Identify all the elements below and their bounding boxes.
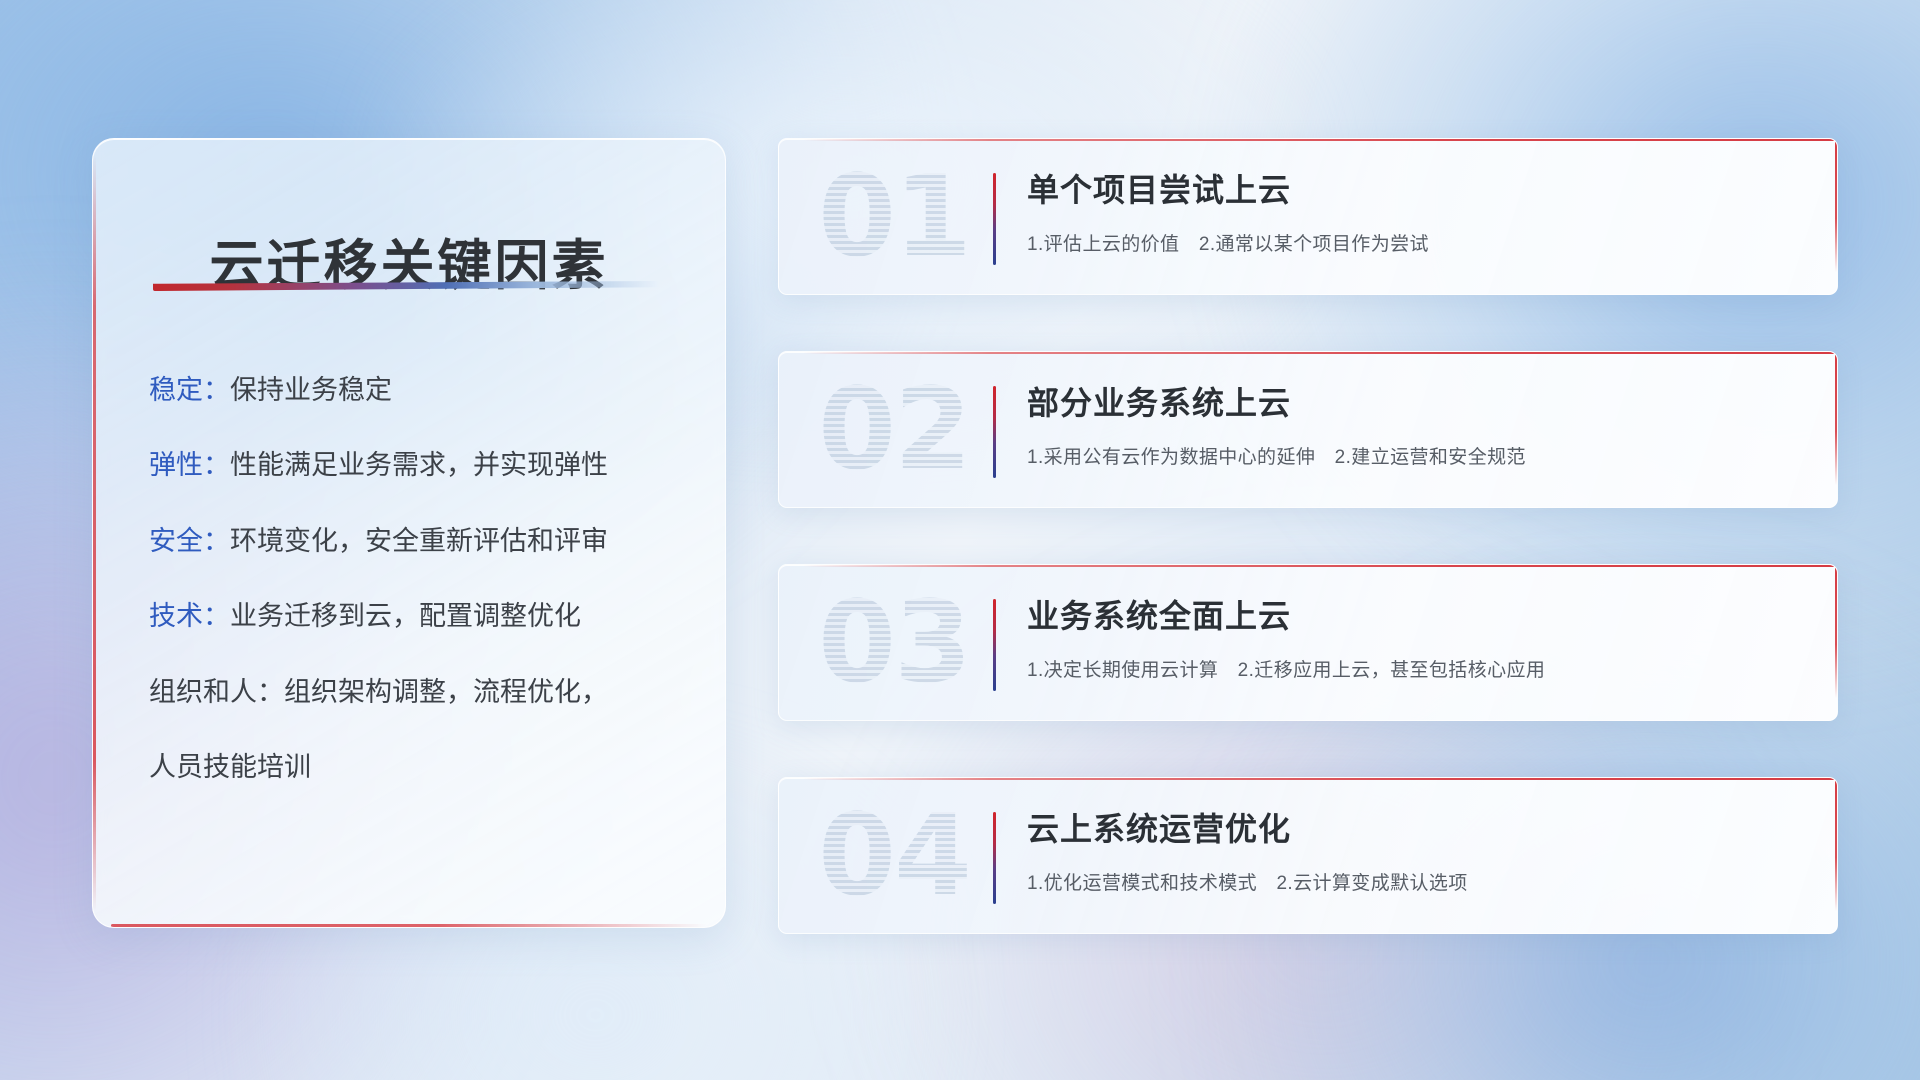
stage-subtitle: 1.采用公有云作为数据中心的延伸 2.建立运营和安全规范 (1027, 442, 1803, 469)
stage-divider-bar (993, 173, 996, 265)
factor-label: 组织和人： (149, 677, 284, 707)
stage-body: 云上系统运营优化 1.优化运营模式和技术模式 2.云计算变成默认选项 (1027, 804, 1803, 895)
stage-divider-bar (993, 386, 996, 478)
card-right-accent (1835, 565, 1837, 698)
migration-stages-list: 01 单个项目尝试上云 1.评估上云的价值 2.通常以某个项目作为尝试 02 部… (778, 138, 1838, 934)
factor-text-continued: 人员技能培训 (149, 752, 311, 782)
stage-card-01[interactable]: 01 单个项目尝试上云 1.评估上云的价值 2.通常以某个项目作为尝试 (778, 138, 1838, 295)
factor-label: 技术： (149, 601, 230, 631)
stage-card-04[interactable]: 04 云上系统运营优化 1.优化运营模式和技术模式 2.云计算变成默认选项 (778, 777, 1838, 934)
stage-title: 部分业务系统上云 (1027, 378, 1803, 424)
stage-subtitle: 1.评估上云的价值 2.通常以某个项目作为尝试 (1027, 229, 1803, 256)
card-top-accent (803, 565, 1837, 567)
stage-divider-bar (993, 812, 996, 904)
factor-text: 保持业务稳定 (230, 375, 392, 405)
factor-label: 安全： (149, 526, 230, 556)
stage-title: 单个项目尝试上云 (1027, 165, 1803, 211)
card-right-accent (1835, 139, 1837, 272)
list-item-continuation: 人员技能培训 (149, 748, 691, 787)
stage-body: 部分业务系统上云 1.采用公有云作为数据中心的延伸 2.建立运营和安全规范 (1027, 378, 1803, 469)
stage-number: 04 (809, 784, 979, 928)
stage-number: 01 (809, 145, 979, 289)
key-factors-list: 稳定：保持业务稳定 弹性：性能满足业务需求，并实现弹性 安全：环境变化，安全重新… (149, 371, 691, 787)
factor-text: 组织架构调整，流程优化， (284, 677, 608, 707)
card-top-accent (803, 352, 1837, 354)
card-top-accent (803, 778, 1837, 780)
list-item: 稳定：保持业务稳定 (149, 371, 691, 410)
stage-card-03[interactable]: 03 业务系统全面上云 1.决定长期使用云计算 2.迁移应用上云，甚至包括核心应… (778, 564, 1838, 721)
card-top-accent (803, 139, 1837, 141)
factor-text: 环境变化，安全重新评估和评审 (230, 526, 608, 556)
factor-label: 稳定： (149, 375, 230, 405)
card-right-accent (1835, 778, 1837, 911)
stage-body: 单个项目尝试上云 1.评估上云的价值 2.通常以某个项目作为尝试 (1027, 165, 1803, 256)
stage-number: 03 (809, 571, 979, 715)
stage-body: 业务系统全面上云 1.决定长期使用云计算 2.迁移应用上云，甚至包括核心应用 (1027, 591, 1803, 682)
stage-number: 02 (809, 358, 979, 502)
stage-subtitle: 1.优化运营模式和技术模式 2.云计算变成默认选项 (1027, 868, 1803, 895)
list-item: 组织和人：组织架构调整，流程优化， (149, 673, 691, 712)
factor-text: 业务迁移到云，配置调整优化 (230, 601, 581, 631)
list-item: 技术：业务迁移到云，配置调整优化 (149, 597, 691, 636)
stage-title: 业务系统全面上云 (1027, 591, 1803, 637)
card-right-accent (1835, 352, 1837, 485)
panel-bottom-accent-bar (111, 924, 707, 927)
list-item: 安全：环境变化，安全重新评估和评审 (149, 522, 691, 561)
factor-text: 性能满足业务需求，并实现弹性 (230, 450, 608, 480)
stage-title: 云上系统运营优化 (1027, 804, 1803, 850)
factor-label: 弹性： (149, 450, 230, 480)
list-item: 弹性：性能满足业务需求，并实现弹性 (149, 446, 691, 485)
stage-subtitle: 1.决定长期使用云计算 2.迁移应用上云，甚至包括核心应用 (1027, 655, 1803, 682)
stage-card-02[interactable]: 02 部分业务系统上云 1.采用公有云作为数据中心的延伸 2.建立运营和安全规范 (778, 351, 1838, 508)
stage-divider-bar (993, 599, 996, 691)
key-factors-panel: 云迁移关键因素 稳定：保持业务稳定 弹性：性能满足业务需求，并实现弹性 安全：环… (92, 138, 726, 928)
